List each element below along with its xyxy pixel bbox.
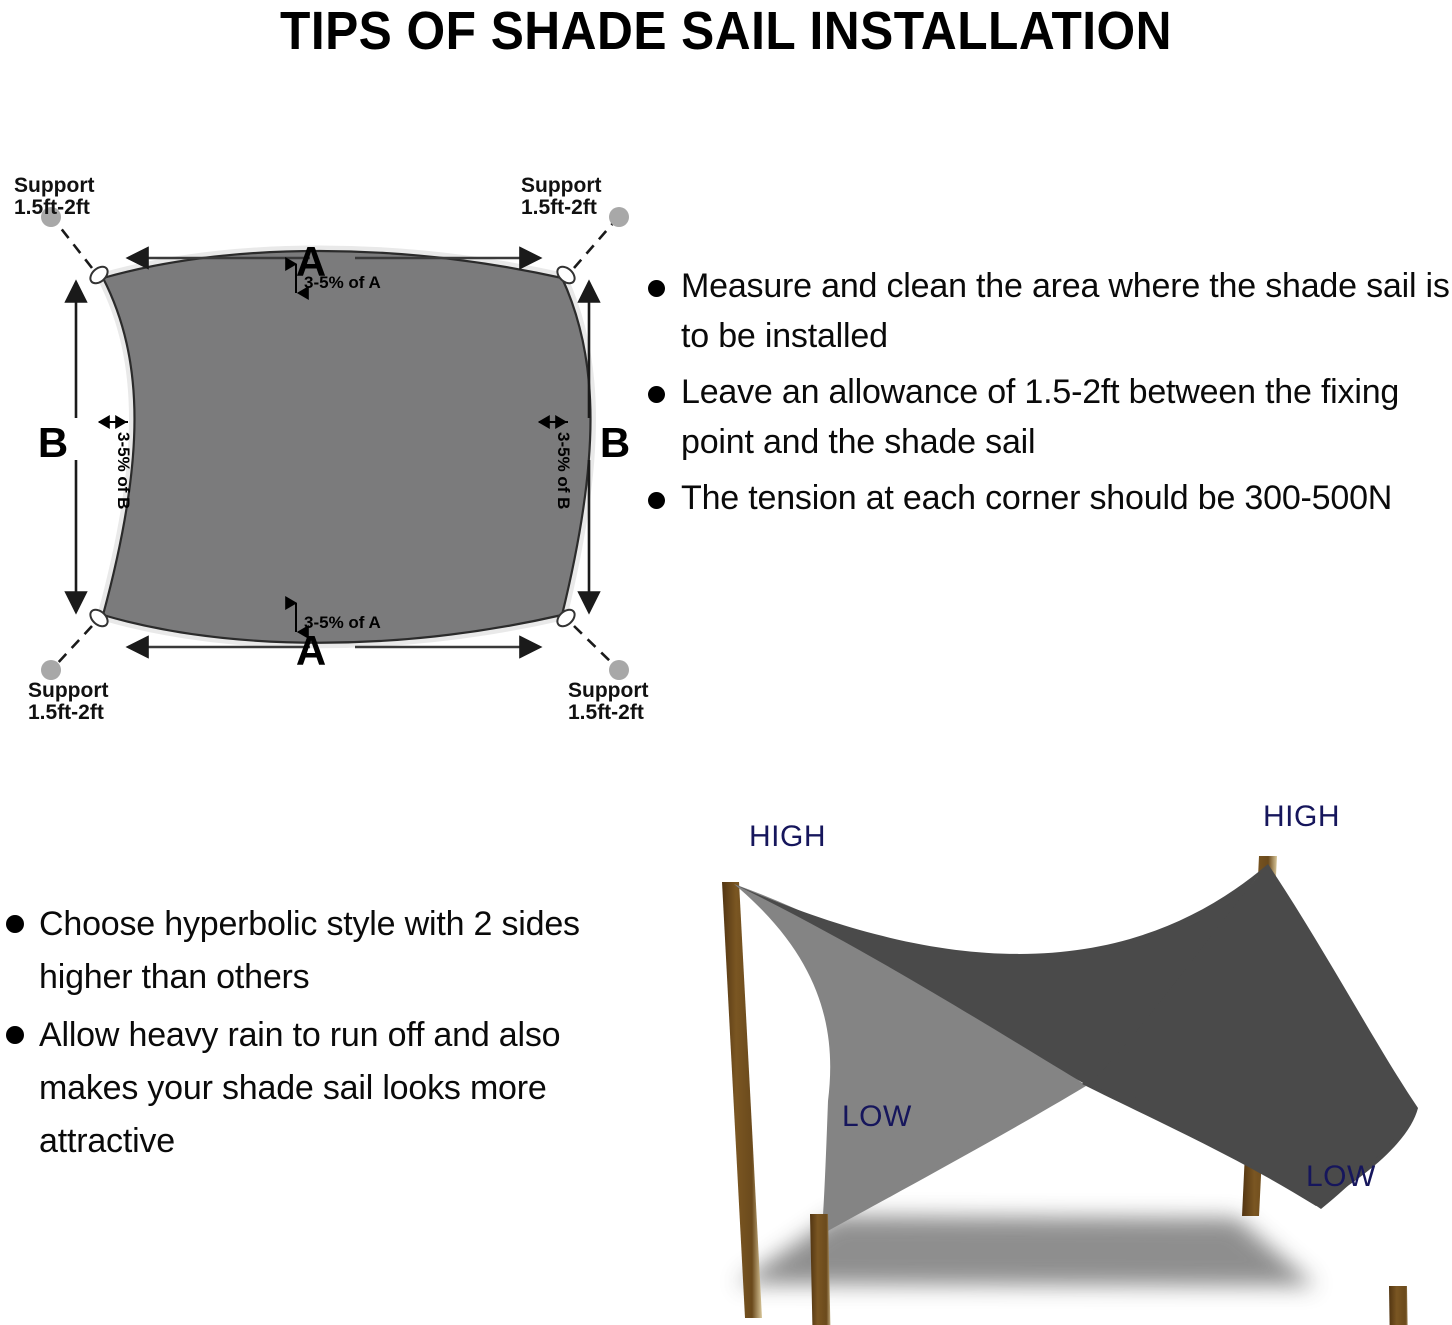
support-label-top-left: Support 1.5ft-2ft: [14, 174, 94, 219]
sail-body: [103, 251, 591, 643]
support-label-line2: 1.5ft-2ft: [521, 196, 597, 219]
tip-text: Leave an allowance of 1.5-2ft between th…: [681, 368, 1452, 468]
curve-depth-left: 3-5% of B: [99, 422, 133, 509]
tip-text: Measure and clean the area where the sha…: [681, 262, 1452, 362]
curve-depth-top-label: 3-5% of A: [304, 273, 381, 292]
post-low-right: [1389, 1286, 1411, 1325]
curve-depth-bottom-label: 3-5% of A: [304, 613, 381, 632]
support-label-line1: Support: [568, 679, 648, 702]
list-item: Allow heavy rain to run off and also mak…: [6, 1009, 626, 1167]
tip-text: Allow heavy rain to run off and also mak…: [39, 1009, 626, 1167]
page-title: TIPS OF SHADE SAIL INSTALLATION: [58, 0, 1394, 62]
bullet-icon: [6, 1026, 24, 1044]
support-label-bottom-right: Support 1.5ft-2ft: [568, 679, 648, 724]
curve-depth-right-label: 3-5% of B: [554, 432, 573, 509]
support-label-line1: Support: [521, 174, 601, 197]
support-label-line2: 1.5ft-2ft: [28, 701, 104, 724]
support-label-line1: Support: [14, 174, 94, 197]
list-item: Leave an allowance of 1.5-2ft between th…: [648, 368, 1452, 468]
label-low-right: LOW: [1306, 1160, 1376, 1193]
label-low-left: LOW: [842, 1100, 912, 1133]
tip-text: The tension at each corner should be 300…: [681, 474, 1452, 524]
rectangular-sail-diagram: Support 1.5ft-2ft Support 1.5ft-2ft Supp…: [0, 160, 650, 740]
support-label-line1: Support: [28, 679, 108, 702]
label-high-right: HIGH: [1263, 800, 1340, 833]
bullet-icon: [648, 386, 665, 403]
dimension-b-label: B: [600, 419, 630, 466]
bullet-icon: [648, 492, 665, 509]
bullet-icon: [6, 915, 24, 933]
installation-tips-list-bottom: Choose hyperbolic style with 2 sides hig…: [6, 898, 626, 1173]
label-high-left: HIGH: [749, 820, 826, 853]
list-item: Choose hyperbolic style with 2 sides hig…: [6, 898, 626, 1003]
hyperbolic-sail-diagram: HIGH HIGH LOW LOW: [676, 786, 1452, 1325]
tip-text: Choose hyperbolic style with 2 sides hig…: [39, 898, 626, 1003]
dimension-a-label: A: [296, 627, 326, 674]
dimension-b-label: B: [38, 419, 68, 466]
list-item: Measure and clean the area where the sha…: [648, 262, 1452, 362]
post-high-left: [722, 882, 762, 1318]
installation-tips-list-top: Measure and clean the area where the sha…: [648, 262, 1452, 530]
bullet-icon: [648, 280, 665, 297]
dimension-b-left: B: [38, 282, 76, 612]
list-item: The tension at each corner should be 300…: [648, 474, 1452, 524]
support-label-line2: 1.5ft-2ft: [14, 196, 90, 219]
curve-depth-left-label: 3-5% of B: [114, 432, 133, 509]
support-label-bottom-left: Support 1.5ft-2ft: [28, 679, 108, 724]
support-label-top-right: Support 1.5ft-2ft: [521, 174, 601, 219]
support-label-line2: 1.5ft-2ft: [568, 701, 644, 724]
